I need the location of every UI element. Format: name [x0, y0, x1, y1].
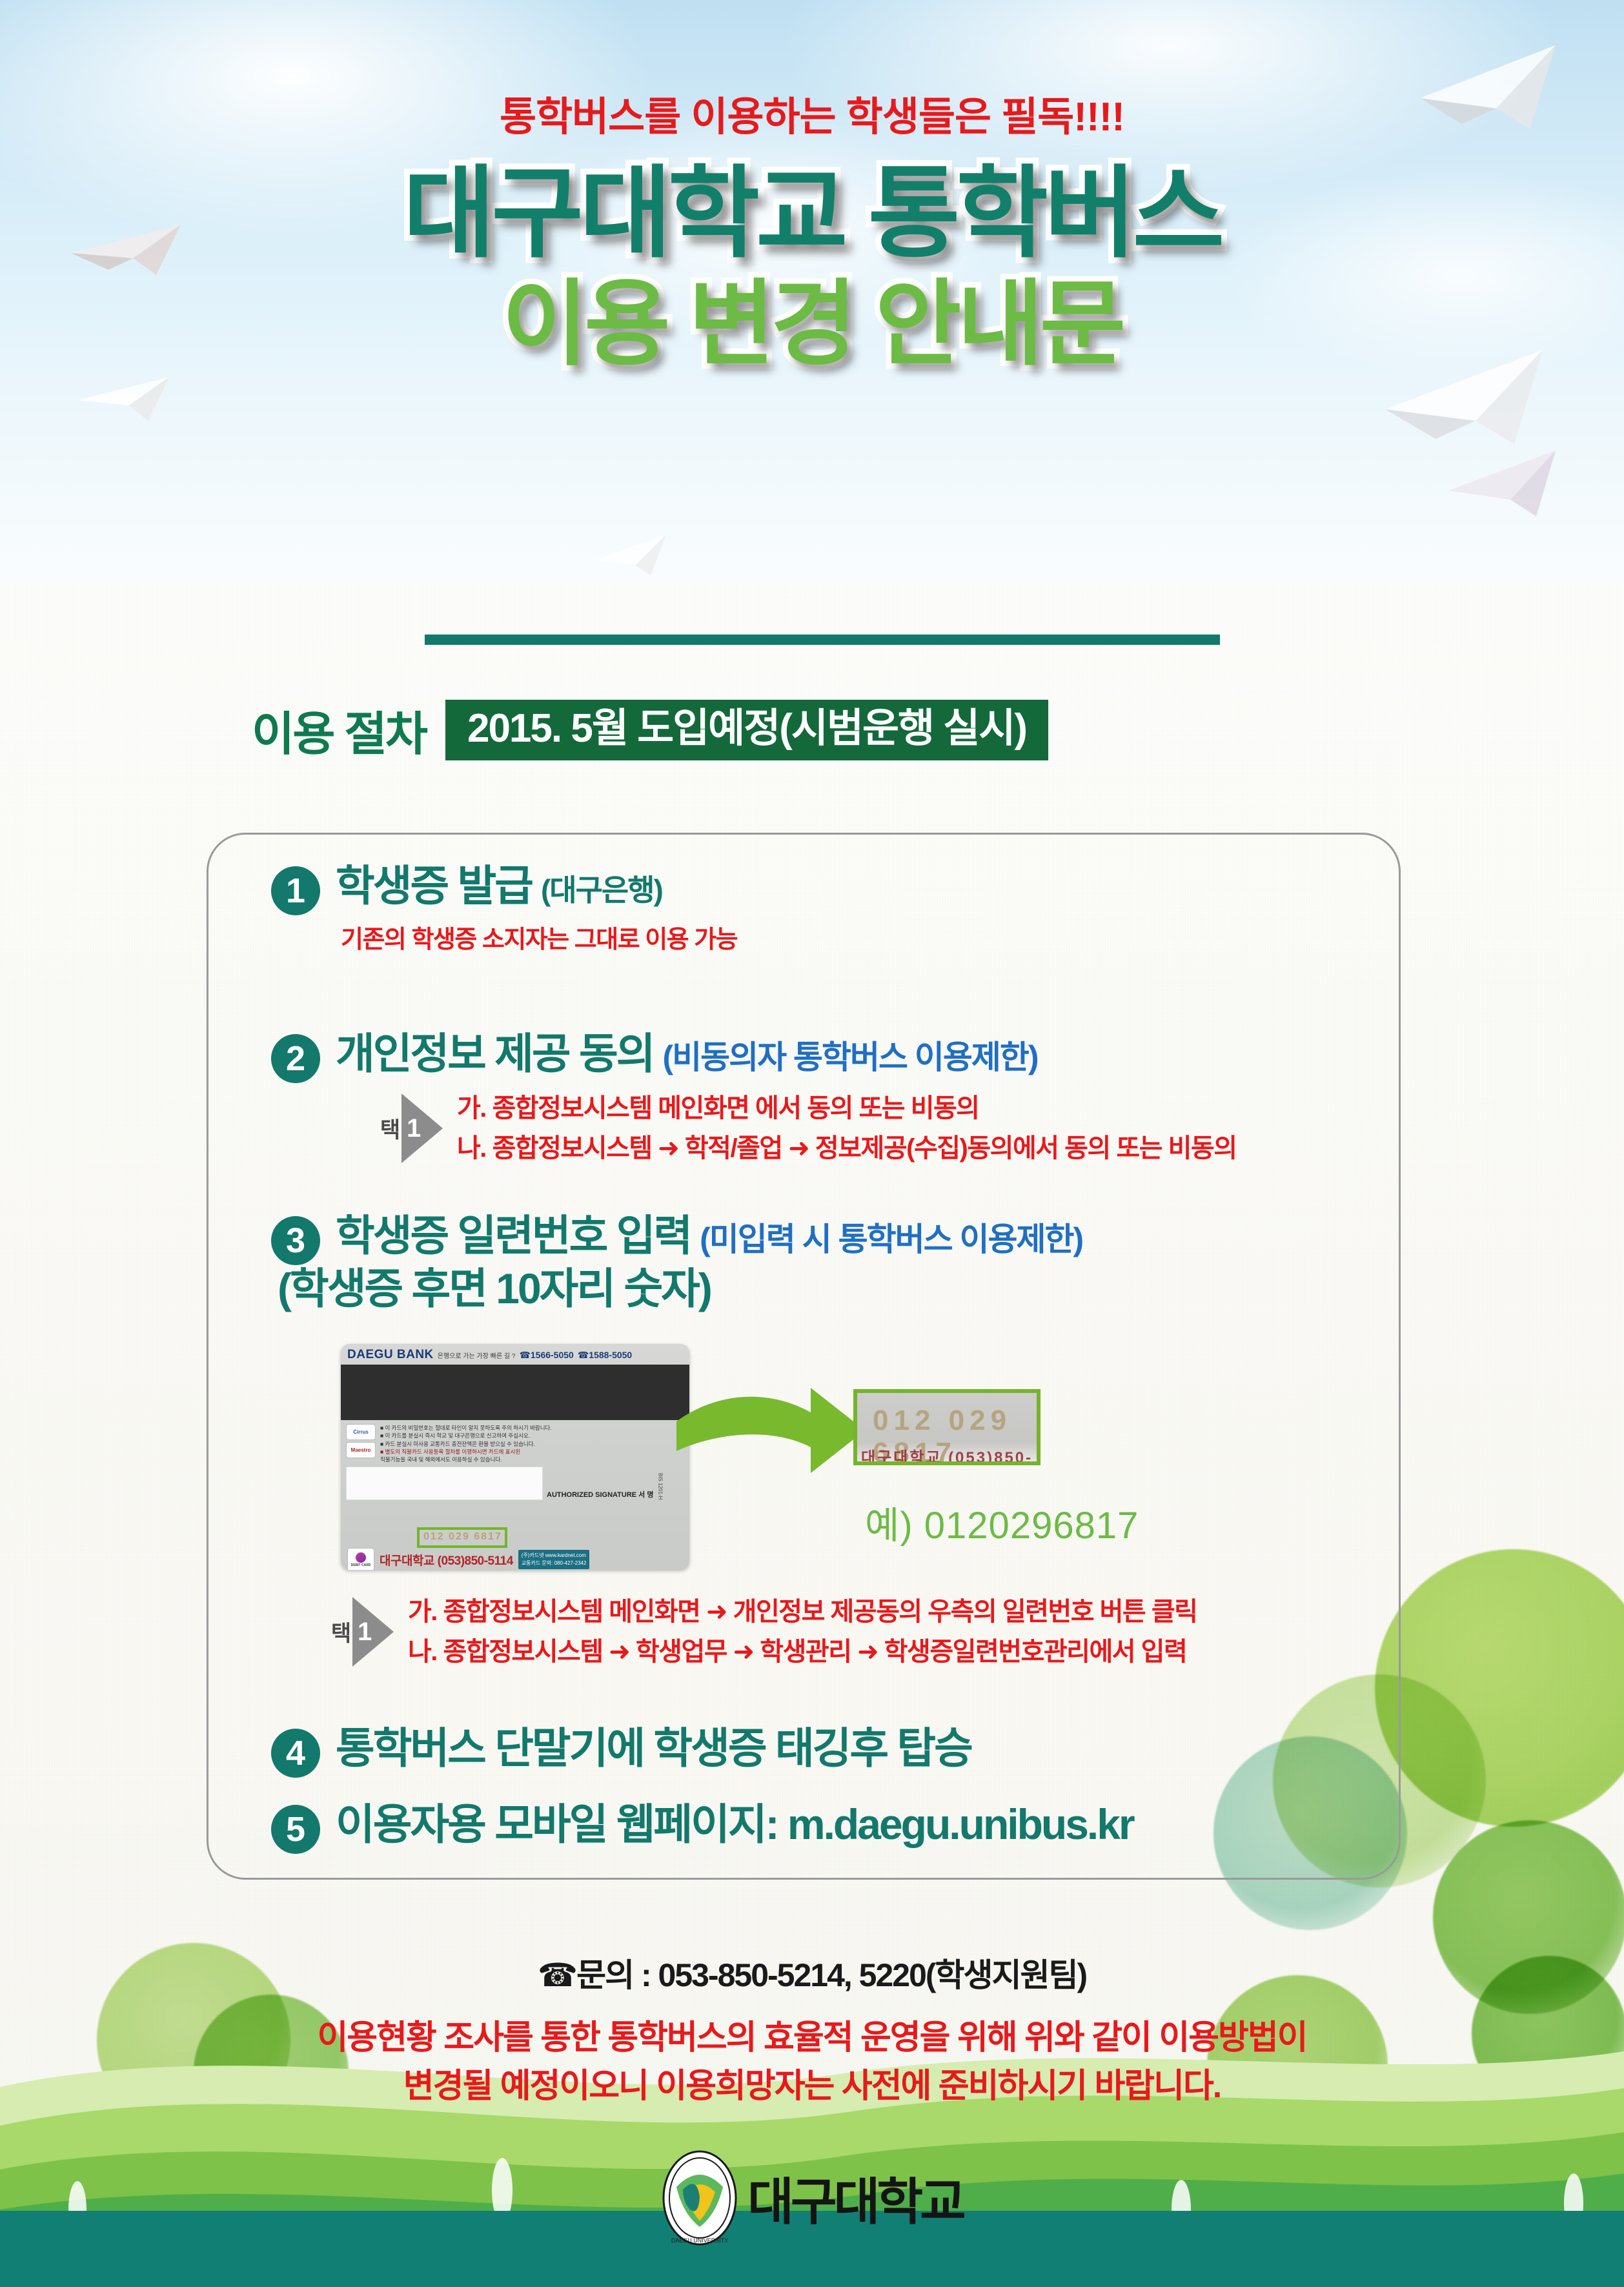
pick-count: 1: [358, 1619, 372, 1645]
poster-title: 대구대학교 통학버스 이용 변경 안내문: [0, 161, 1624, 376]
card-header-row: DAEGU BANK 은행으로 가는 가장 빠른 길 ? ☎1566-5050 …: [341, 1344, 689, 1363]
step-4-title: 통학버스 단말기에 학생증 태깅후 탑승: [336, 1725, 971, 1773]
section-label: 이용 절차: [252, 696, 426, 764]
card-tel-1: ☎1566-5050: [519, 1350, 573, 1361]
card-network-logos: Cirrus Maestro: [346, 1424, 376, 1464]
daegu-university-seal-icon: DAEGU UNIVERSITY: [661, 2150, 738, 2246]
paper-plane-icon: [594, 529, 671, 581]
kardnet-line-2: 교통카드 문의: 080-427-2342: [522, 1560, 587, 1567]
card-rule-1: ■ 이 카드의 비밀번호는 절대로 타인이 알지 못하도록 주의 하시기 바랍니…: [380, 1424, 552, 1432]
green-curved-arrow-icon: [676, 1368, 870, 1517]
pick-triangle-icon: 1: [352, 1597, 394, 1667]
university-logo-row: DAEGU UNIVERSITY 대구대학교: [0, 2150, 1624, 2246]
step-1-subtext: 기존의 학생증 소지자는 그대로 이용 가능: [341, 919, 737, 955]
pick-label: 택: [328, 1621, 350, 1643]
pick-label: 택: [377, 1118, 399, 1139]
cirrus-logo-icon: Cirrus: [346, 1424, 376, 1440]
step-2-paren: (비동의자 통학버스 이용제한): [662, 1032, 1037, 1078]
kicker-text: 통학버스를 이용하는 학생들은 필독!!!!: [0, 84, 1624, 142]
title-line-2: 이용 변경 안내문: [0, 273, 1624, 376]
notice-text: 이용현황 조사를 통한 통학버스의 효율적 운영을 위해 위와 같이 이용방법이…: [0, 2014, 1624, 2111]
card-rule-3: ■ 카드 분실시 미사용 교통카드 충전잔액은 환불 받으실 수 있습니다.: [380, 1440, 552, 1448]
card-bis-code: BIS 1201-H: [657, 1473, 663, 1499]
pick-one-marker: 택 1: [377, 1093, 443, 1163]
paper-plane-icon: [77, 368, 174, 429]
step-3-paren: (미입력 시 통학버스 이용제한): [700, 1214, 1082, 1260]
card-footer-row: DEBIT CARD 대구대학교 (053)850-5114 (주)카드넷 ww…: [341, 1548, 689, 1570]
card-university-line: 대구대학교 (053)850-5114: [380, 1551, 513, 1569]
card-slogan: 은행으로 가는 가장 빠른 길 ?: [438, 1350, 516, 1360]
university-name: 대구대학교: [747, 2162, 963, 2234]
step-2-option-a: 가. 종합정보시스템 메인화면 에서 동의 또는 비동의: [457, 1088, 1237, 1128]
serial-zoom-callout: 012 029 6817 대구대학교 (053)850-5: [853, 1389, 1040, 1465]
step-1: 1 학생증 발급 (대구은행) 기존의 학생증 소지자는 그대로 이용 가능: [271, 862, 737, 955]
pick-triangle-icon: 1: [401, 1093, 443, 1163]
step-5: 5 이용자용 모바일 웹페이지: m.daegu.unibus.kr: [271, 1801, 1133, 1854]
section-header: 이용 절차 2015. 5월 도입예정(시범운행 실시): [252, 696, 1048, 764]
notice-line-2: 변경될 예정이오니 이용희망자는 사전에 준비하시기 바랍니다.: [0, 2062, 1624, 2111]
debit-label: DEBIT CARD: [351, 1563, 371, 1567]
pick-count: 1: [407, 1115, 421, 1141]
paper-plane-icon: [1446, 445, 1562, 523]
poster-root: 통학버스를 이용하는 학생들은 필독!!!! 대구대학교 통학버스 이용 변경 …: [0, 0, 1624, 2287]
contact-line: ☎문의 : 053-850-5214, 5220(학생지원팀): [0, 1949, 1624, 1996]
maestro-logo-icon: Maestro: [346, 1442, 376, 1458]
card-rules-text: ■ 이 카드의 비밀번호는 절대로 타인이 알지 못하도록 주의 하시기 바랍니…: [380, 1424, 552, 1464]
step-number-badge: 3: [271, 1216, 320, 1265]
card-serial-number: 012 029 6817: [423, 1531, 502, 1543]
step-3-option-b: 나. 종합정보시스템 ➜ 학생업무 ➜ 학생관리 ➜ 학생증일련번호관리에서 입…: [408, 1632, 1197, 1672]
title-line-1: 대구대학교 통학버스: [0, 161, 1624, 267]
step-3-title: 학생증 일련번호 입력: [336, 1212, 691, 1260]
step-number-badge: 2: [271, 1034, 320, 1083]
card-rule-5: 직불기능을 국내 및 해외에서도 이용하실 수 있습니다.: [380, 1456, 552, 1463]
debit-card-logo-icon: DEBIT CARD: [347, 1548, 374, 1570]
title-divider: [425, 635, 1220, 645]
step-3-subtitle: (학생증 후면 10자리 숫자): [278, 1265, 1082, 1313]
card-signature-box: [346, 1467, 543, 1500]
card-kardnet-box: (주)카드넷 www.kardnet.com 교통카드 문의: 080-427-…: [518, 1550, 590, 1569]
card-signature-label: AUTHORIZED SIGNATURE 서 명: [547, 1491, 653, 1500]
step-1-title: 학생증 발급: [336, 862, 532, 910]
student-card-image: DAEGU BANK 은행으로 가는 가장 빠른 길 ? ☎1566-5050 …: [341, 1344, 689, 1570]
step-2-option-b: 나. 종합정보시스템 ➜ 학적/졸업 ➜ 정보제공(수집)동의에서 동의 또는 …: [457, 1128, 1237, 1168]
pick-one-marker: 택 1: [328, 1597, 394, 1667]
card-rule-4: ■ 별도의 직불카드 사용등록 절차를 이행하시면 카드에 표시된: [380, 1448, 552, 1456]
step-1-paren: (대구은행): [541, 867, 662, 910]
card-signature-row: AUTHORIZED SIGNATURE 서 명 BIS 1201-H: [341, 1467, 689, 1500]
serial-example-text: 예) 0120296817: [865, 1495, 1139, 1549]
step-number-badge: 5: [271, 1805, 320, 1854]
step-2: 2 개인정보 제공 동의 (비동의자 통학버스 이용제한) 택 1 가. 종합정…: [271, 1030, 1237, 1168]
step-3-option-a: 가. 종합정보시스템 메인화면 ➜ 개인정보 제공동의 우측의 일련번호 버튼 …: [408, 1592, 1197, 1632]
card-rule-2: ■ 이 카드를 분실시 즉시 학교 및 대구은행으로 신고하여 주십시오.: [380, 1432, 552, 1439]
kardnet-line-1: (주)카드넷 www.kardnet.com: [522, 1552, 587, 1560]
step-5-title: 이용자용 모바일 웹페이지: m.daegu.unibus.kr: [336, 1801, 1133, 1849]
notice-line-1: 이용현황 조사를 통한 통학버스의 효율적 운영을 위해 위와 같이 이용방법이: [0, 2014, 1624, 2062]
step-number-badge: 1: [271, 866, 320, 915]
step-4: 4 통학버스 단말기에 학생증 태깅후 탑승: [271, 1725, 971, 1778]
step-2-title: 개인정보 제공 동의: [336, 1030, 653, 1078]
step-number-badge: 4: [271, 1729, 320, 1778]
seal-bottom-text: DAEGU UNIVERSITY: [671, 2237, 729, 2244]
step-3: 3 학생증 일련번호 입력 (미입력 시 통학버스 이용제한) (학생증 후면 …: [271, 1212, 1082, 1313]
card-body-row: Cirrus Maestro ■ 이 카드의 비밀번호는 절대로 타인이 알지 …: [341, 1420, 689, 1464]
card-tel-2: ☎1588-5050: [578, 1350, 632, 1361]
callout-serial-subtext: 대구대학교 (053)850-5: [861, 1445, 1037, 1465]
card-magnetic-stripe: [341, 1365, 689, 1420]
card-bank-name: DAEGU BANK: [347, 1348, 434, 1362]
step-3-options: 택 1 가. 종합정보시스템 메인화면 ➜ 개인정보 제공동의 우측의 일련번호…: [328, 1592, 1197, 1672]
section-banner: 2015. 5월 도입예정(시범운행 실시): [445, 700, 1048, 760]
